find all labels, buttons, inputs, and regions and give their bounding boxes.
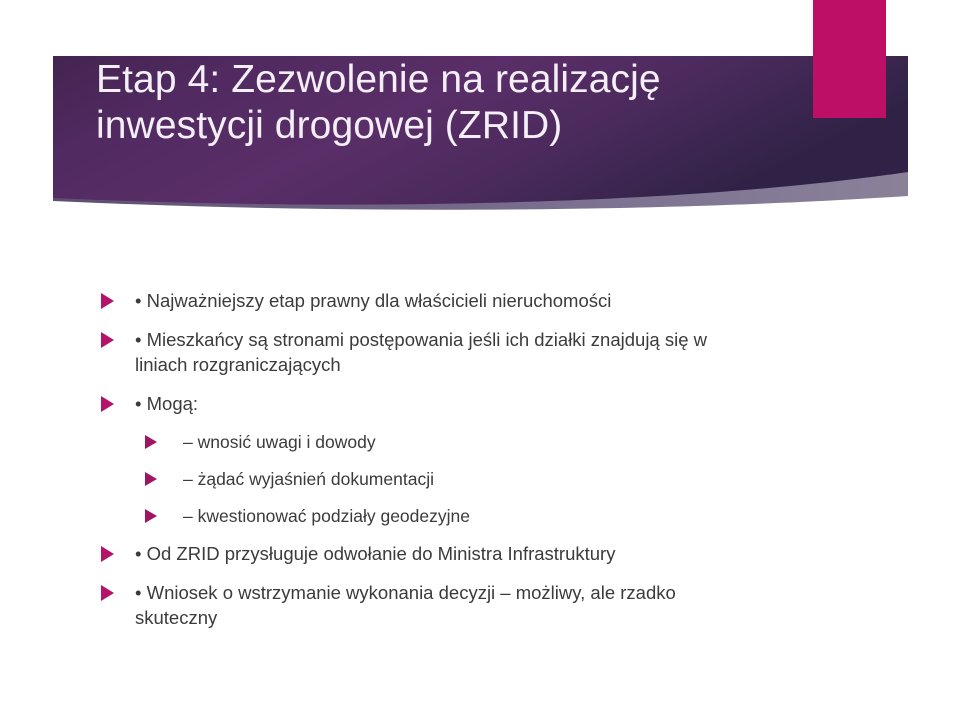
triangle-bullet-icon xyxy=(101,396,114,412)
sub-list-item: – wnosić uwagi i dowody xyxy=(0,430,960,454)
list-item: • Najważniejszy etap prawny dla właścici… xyxy=(0,288,960,313)
sub-list-item: – żądać wyjaśnień dokumentacji xyxy=(0,467,960,491)
list-item-text: • Najważniejszy etap prawny dla właścici… xyxy=(135,288,611,313)
triangle-bullet-icon xyxy=(101,585,114,601)
list-item: • Od ZRID przysługuje odwołanie do Minis… xyxy=(0,541,960,566)
triangle-bullet-icon xyxy=(101,546,114,562)
triangle-bullet-icon xyxy=(145,472,157,486)
sub-list-item: – kwestionować podziały geodezyjne xyxy=(0,504,960,528)
list-item-text: • Mogą: xyxy=(135,391,198,416)
accent-bar xyxy=(813,0,886,118)
list-item-text: • Od ZRID przysługuje odwołanie do Minis… xyxy=(135,541,615,566)
list-item-text: • Wniosek o wstrzymanie wykonania decyzj… xyxy=(135,580,745,630)
list-item: • Mogą: xyxy=(0,391,960,416)
page-title: Etap 4: Zezwolenie na realizację inwesty… xyxy=(96,57,796,149)
sub-list-item-text: – kwestionować podziały geodezyjne xyxy=(183,504,470,528)
triangle-bullet-icon xyxy=(145,435,157,449)
sub-list-item-text: – żądać wyjaśnień dokumentacji xyxy=(183,467,434,491)
sub-list-item-text: – wnosić uwagi i dowody xyxy=(183,430,376,454)
bullet-list: • Najważniejszy etap prawny dla właścici… xyxy=(0,288,960,644)
title-block: Etap 4: Zezwolenie na realizację inwesty… xyxy=(96,57,796,149)
list-item: • Wniosek o wstrzymanie wykonania decyzj… xyxy=(0,580,960,630)
triangle-bullet-icon xyxy=(101,332,114,348)
triangle-bullet-icon xyxy=(145,509,157,523)
list-item: • Mieszkańcy są stronami postępowania je… xyxy=(0,327,960,377)
triangle-bullet-icon xyxy=(101,293,114,309)
slide-canvas: Etap 4: Zezwolenie na realizację inwesty… xyxy=(0,0,960,720)
list-item-text: • Mieszkańcy są stronami postępowania je… xyxy=(135,327,745,377)
